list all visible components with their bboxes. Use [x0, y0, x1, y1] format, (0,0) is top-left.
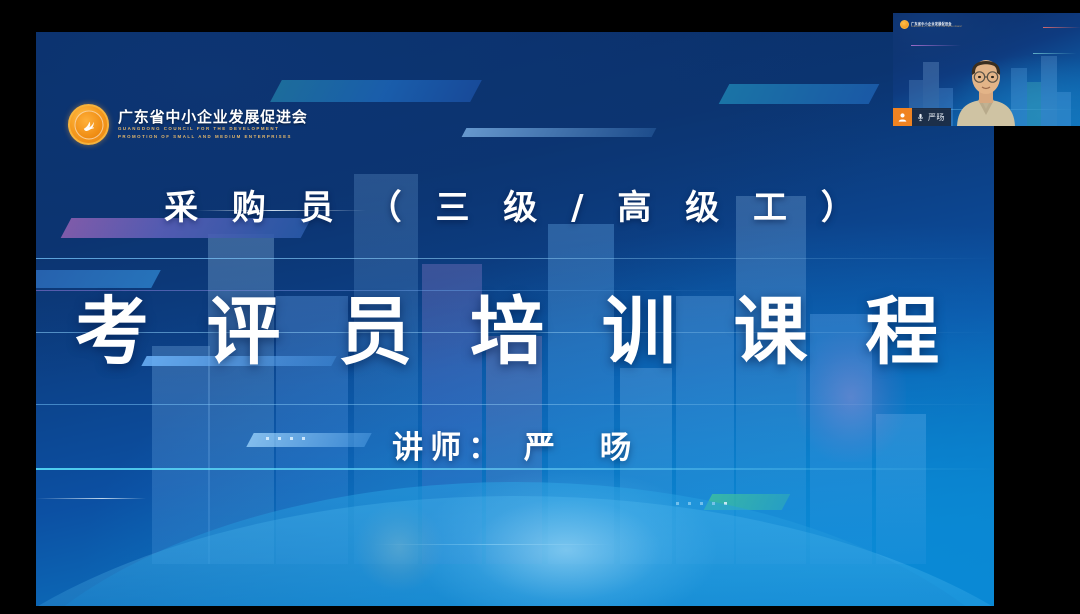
decor-streak: [1033, 53, 1077, 54]
emblem-swoosh-icon: [78, 114, 99, 135]
decor-bar: [1041, 56, 1057, 126]
logo-name-cn: 广东省中小企业发展促进会: [118, 109, 308, 126]
webcam-logo-name-en: GUANGDONG COUNCIL FOR THE DEVELOPMENT: [911, 26, 962, 28]
logo-name-en-2: PROMOTION OF SMALL AND MEDIUM ENTERPRISE…: [118, 134, 308, 140]
slide-title: 考 评 员 培 训 课 程: [36, 272, 994, 379]
webcam-pip-panel[interactable]: 广东省中小企业发展促进会 GUANGDONG COUNCIL FOR THE D…: [893, 13, 1080, 126]
decor-streak: [36, 498, 146, 499]
association-emblem-icon: [900, 20, 909, 29]
decor-streak: [911, 45, 961, 46]
slide-presenter: 讲师： 严 旸: [36, 422, 994, 467]
decor-streak: [36, 258, 994, 259]
decor-bar: [1027, 82, 1041, 126]
microphone-icon: [916, 113, 925, 122]
webcam-speaker-name-group: 严旸: [912, 108, 951, 126]
webcam-logo-text: 广东省中小企业发展促进会 GUANGDONG COUNCIL FOR THE D…: [911, 21, 962, 28]
logo-text-block: 广东省中小企业发展促进会 GUANGDONG COUNCIL FOR THE D…: [118, 109, 308, 140]
person-glyph-icon: [897, 112, 908, 123]
person-icon: [893, 108, 912, 126]
association-emblem-icon: [68, 104, 109, 145]
presentation-slide[interactable]: 广东省中小企业发展促进会 GUANGDONG COUNCIL FOR THE D…: [36, 32, 994, 606]
decor-accent-stripe: [462, 128, 657, 137]
webcam-person-figure: [947, 53, 1025, 126]
screen-root: 广东省中小企业发展促进会 GUANGDONG COUNCIL FOR THE D…: [0, 0, 1080, 614]
organization-logo: 广东省中小企业发展促进会 GUANGDONG COUNCIL FOR THE D…: [68, 104, 308, 145]
webcam-overlay-logo: 广东省中小企业发展促进会 GUANGDONG COUNCIL FOR THE D…: [900, 20, 962, 29]
decor-streak: [1043, 27, 1080, 28]
webcam-speaker-name: 严旸: [928, 112, 945, 123]
decor-glow: [416, 470, 716, 606]
webcam-name-badge: 严旸: [893, 108, 951, 126]
decor-accent-blue: [719, 84, 880, 104]
slide-subtitle: 采 购 员 （ 三 级 / 高 级 工 ）: [36, 180, 994, 229]
logo-name-en-1: GUANGDONG COUNCIL FOR THE DEVELOPMENT: [118, 126, 308, 132]
decor-accent-teal: [270, 80, 482, 102]
